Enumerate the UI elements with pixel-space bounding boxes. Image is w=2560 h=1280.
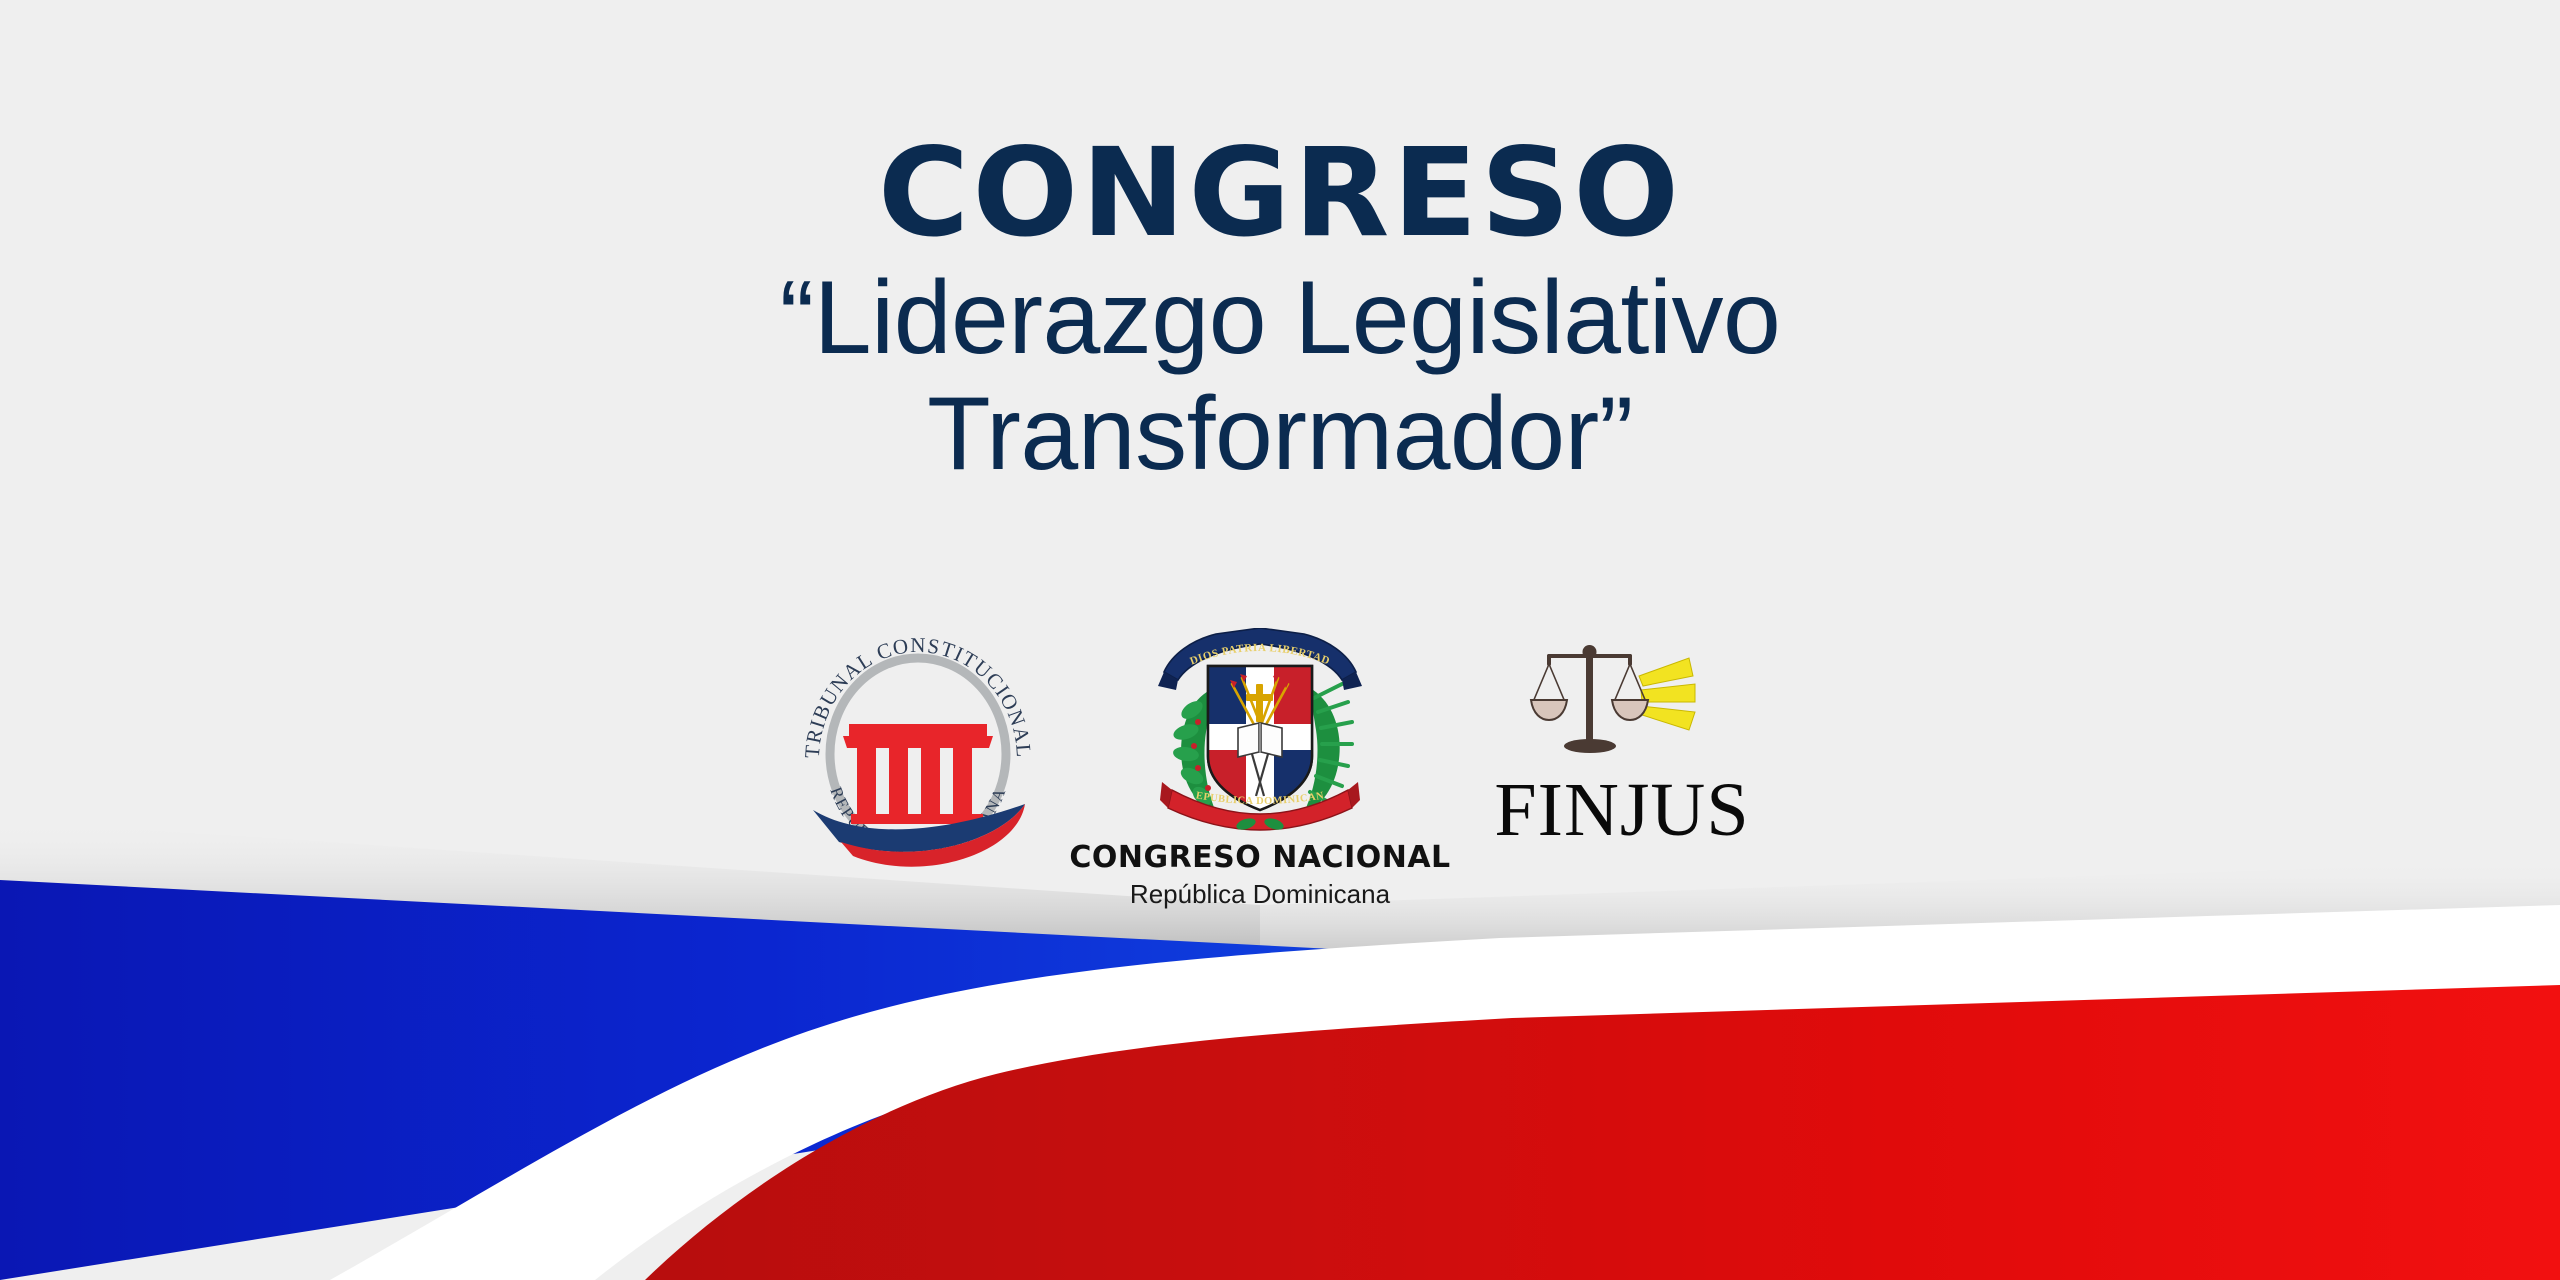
subtitle-line-1: “Liderazgo Legislativo [0,260,2560,376]
scale-pan-left [1531,700,1567,720]
logo-tribunal-constitucional: TRIBUNAL CONSTITUCIONAL REPUBLICA DOMINI… [793,628,1043,878]
tc-temple-icon [843,724,993,824]
congreso-nacional-subtitle: República Dominicana [1130,879,1390,910]
flag-shape-blue [0,880,1700,1280]
flag-shape-red [645,985,2560,1280]
banner-canvas: CONGRESO “Liderazgo Legislativo Transfor… [0,0,2560,1280]
dominican-coat-of-arms-icon: DIOS PATRIA LIBERTAD REPUBLICA DOMINICAN… [1146,628,1374,838]
logo-congreso-nacional: DIOS PATRIA LIBERTAD REPUBLICA DOMINICAN… [1095,628,1425,910]
scale-stand [1564,645,1616,753]
balance-scales-icon [1527,628,1717,768]
logo-finjus: FINJUS [1477,628,1767,848]
rays-icon [1639,658,1695,730]
finjus-wordmark: FINJUS [1494,772,1749,848]
bible-icon [1238,723,1282,757]
scale-pan-right [1612,700,1648,720]
congreso-nacional-name: CONGRESO NACIONAL [1069,840,1450,875]
page-title: CONGRESO [0,132,2560,254]
logos-row: TRIBUNAL CONSTITUCIONAL REPUBLICA DOMINI… [0,628,2560,910]
flag-shape-white [0,905,2560,1280]
tribunal-constitucional-seal-icon: TRIBUNAL CONSTITUCIONAL REPUBLICA DOMINI… [793,628,1043,878]
headline-block: CONGRESO “Liderazgo Legislativo Transfor… [0,132,2560,493]
subtitle-line-2: Transformador” [0,376,2560,492]
